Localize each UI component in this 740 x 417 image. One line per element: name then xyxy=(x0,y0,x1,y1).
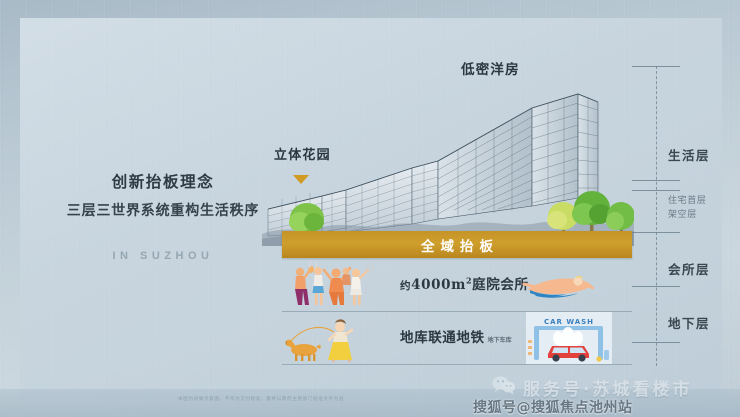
global-slab-band: 全域抬板 xyxy=(282,231,632,258)
clubhouse-approx: 约 xyxy=(400,280,411,292)
scale-label-stilt-floor: 架空层 xyxy=(668,207,697,220)
svg-text:CAR WASH: CAR WASH xyxy=(544,318,594,326)
scale-label-residence-ground: 住宅首层 xyxy=(668,193,706,206)
tier-clubhouse: 约4000m2庭院会所 xyxy=(282,259,632,311)
group-of-people-playing-sports-icon xyxy=(284,261,384,309)
tier-divider-upper xyxy=(282,311,632,312)
scale-tick-top xyxy=(632,66,680,67)
location-tagline: IN SUZHOU xyxy=(48,250,278,262)
global-slab-label: 全域抬板 xyxy=(415,235,499,255)
scale-axis-line xyxy=(656,66,657,366)
scale-tick-residence xyxy=(632,190,680,191)
underground-main-text: 地库联通地铁 xyxy=(400,330,485,346)
label-low-density-housing: 低密洋房 xyxy=(461,58,520,78)
underground-tiny-text: 地下车库 xyxy=(488,337,512,344)
underground-description: 地库联通地铁地下车库 xyxy=(400,326,512,346)
concept-subtitle: 三层三世界系统重构生活秩序 xyxy=(48,200,278,220)
left-text-block: 创新抬板理念 三层三世界系统重构生活秩序 IN SUZHOU xyxy=(48,172,278,262)
clubhouse-area-suffix: 庭院会所 xyxy=(472,277,528,293)
clubhouse-area-unit: m xyxy=(451,277,466,293)
car-wash-icon: CAR WASH xyxy=(526,312,612,364)
tier-divider-lower xyxy=(282,364,632,365)
concept-title: 创新抬板理念 xyxy=(48,172,278,192)
label-vertical-garden: 立体花园 xyxy=(274,144,331,163)
scale-label-clubhouse: 会所层 xyxy=(668,259,710,278)
scale-tick-clubhouse-top xyxy=(632,232,680,233)
layer-scale: 生活层 住宅首层 架空层 会所层 地下层 xyxy=(628,62,728,372)
triangle-down-icon xyxy=(293,175,309,184)
scale-label-underground: 地下层 xyxy=(668,313,710,332)
slide-canvas: 创新抬板理念 三层三世界系统重构生活秩序 IN SUZHOU xyxy=(0,0,740,417)
clubhouse-area-number: 4000 xyxy=(411,277,451,293)
tier-underground: 地库联通地铁地下车库 CAR WASH xyxy=(282,312,632,364)
sohu-watermark: 搜狐号@搜狐焦点池州站 xyxy=(473,397,633,417)
scale-tick-living-bottom xyxy=(632,180,680,181)
scale-label-living: 生活层 xyxy=(668,145,710,164)
scale-tick-underground-top xyxy=(632,286,680,287)
legal-disclaimer: 本图为效果示意图，不作为交付标准，最终以政府主管部门批准文件为准 xyxy=(178,396,344,402)
clubhouse-description: 约4000m2庭院会所 xyxy=(400,273,529,293)
person-swimming-icon xyxy=(522,267,594,301)
person-walking-dog-icon xyxy=(282,316,392,362)
scale-tick-bottom xyxy=(632,342,680,343)
